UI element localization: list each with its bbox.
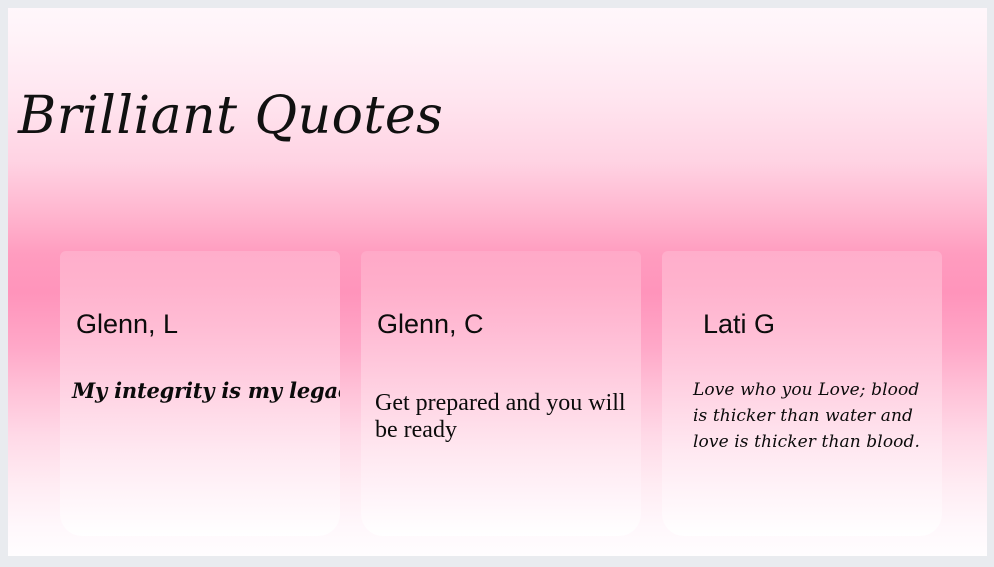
quote-card[interactable]: Lati G Love who you Love; blood is thick… [662,251,942,536]
quote-text: Love who you Love; blood is thicker than… [693,378,924,455]
quotes-page: Brilliant Quotes Glenn, L My integrity i… [8,8,987,556]
page-title: Brilliant Quotes [18,90,443,142]
quote-author: Glenn, C [377,311,484,338]
quote-text: Get prepared and you will be ready [375,390,627,444]
quote-card[interactable]: Glenn, C Get prepared and you will be re… [361,251,641,536]
quote-author: Glenn, L [76,311,178,338]
browser-viewport: Brilliant Quotes Glenn, L My integrity i… [0,0,994,567]
quote-card[interactable]: Glenn, L My integrity is my legacy [60,251,340,536]
quote-text: My integrity is my legacy [72,379,326,403]
quote-author: Lati G [703,311,775,338]
quote-card-list: Glenn, L My integrity is my legacy Glenn… [60,251,975,544]
